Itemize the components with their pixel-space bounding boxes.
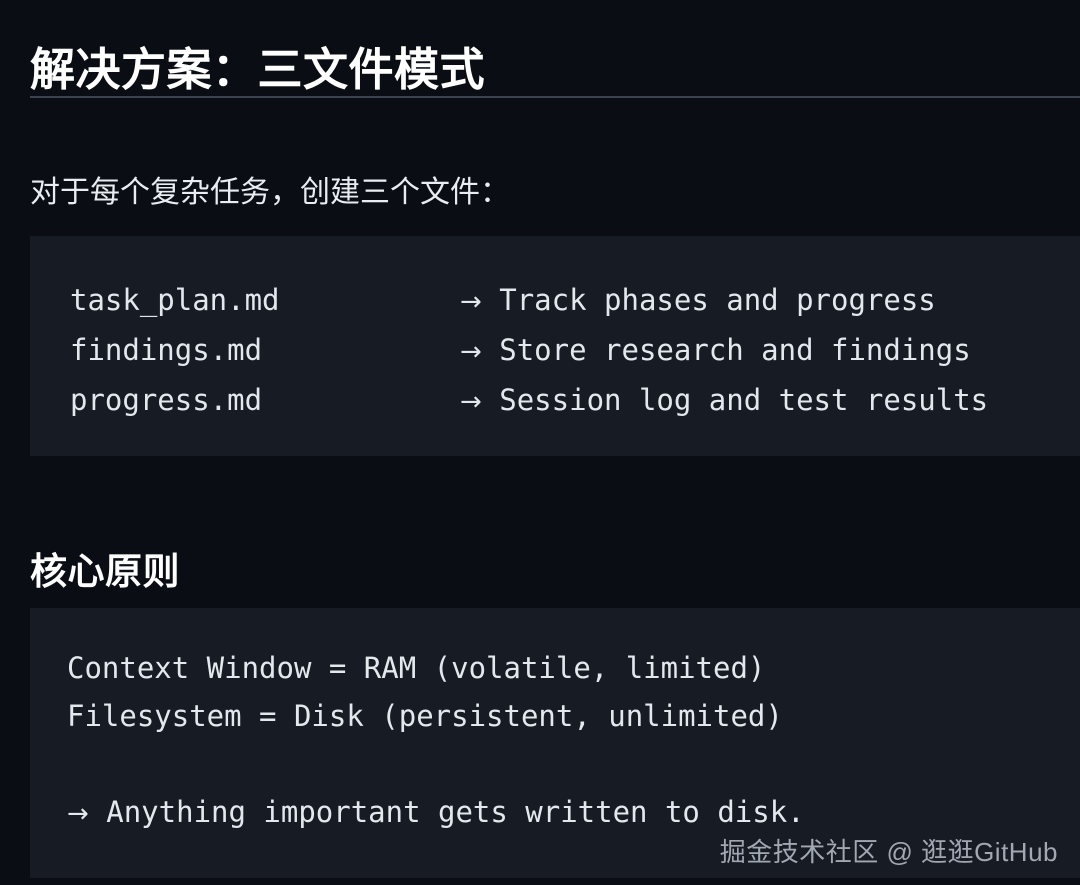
file-name: progress.md: [70, 376, 460, 424]
arrow-right-icon: →: [460, 287, 482, 317]
file-row: task_plan.md→ Track phases and progress: [70, 276, 1080, 326]
file-list-code-block: task_plan.md→ Track phases and progress …: [30, 236, 1080, 456]
conclusion-text: Anything important gets written to disk.: [106, 795, 804, 829]
file-description-text: Track phases and progress: [499, 283, 936, 317]
principle-line-conclusion: → Anything important gets written to dis…: [67, 788, 1080, 838]
title-divider: [30, 96, 1080, 98]
intro-paragraph: 对于每个复杂任务，创建三个文件：: [30, 170, 510, 215]
page-title: 解决方案：三文件模式: [30, 42, 485, 98]
slide-root: 解决方案：三文件模式 对于每个复杂任务，创建三个文件： task_plan.md…: [0, 0, 1080, 885]
file-description: [482, 383, 499, 417]
file-description-text: Store research and findings: [499, 333, 970, 367]
file-description: [482, 333, 499, 367]
arrow-right-icon: →: [460, 337, 482, 367]
file-name: findings.md: [70, 326, 460, 374]
file-description: [482, 283, 499, 317]
arrow-right-icon: →: [67, 799, 89, 829]
file-row: findings.md→ Store research and findings: [70, 326, 1080, 376]
file-row: progress.md→ Session log and test result…: [70, 376, 1080, 426]
file-name: task_plan.md: [70, 276, 460, 324]
watermark: 掘金技术社区 @ 逛逛GitHub: [720, 832, 1058, 869]
principle-line-filesystem: Filesystem = Disk (persistent, unlimited…: [67, 692, 1080, 740]
blank-line: [67, 740, 1080, 788]
section-heading-core-principles: 核心原则: [30, 541, 180, 595]
arrow-right-icon: →: [460, 387, 482, 417]
conclusion-spacer: [89, 795, 106, 829]
file-description-text: Session log and test results: [499, 383, 988, 417]
principle-line-context-window: Context Window = RAM (volatile, limited): [67, 644, 1080, 692]
